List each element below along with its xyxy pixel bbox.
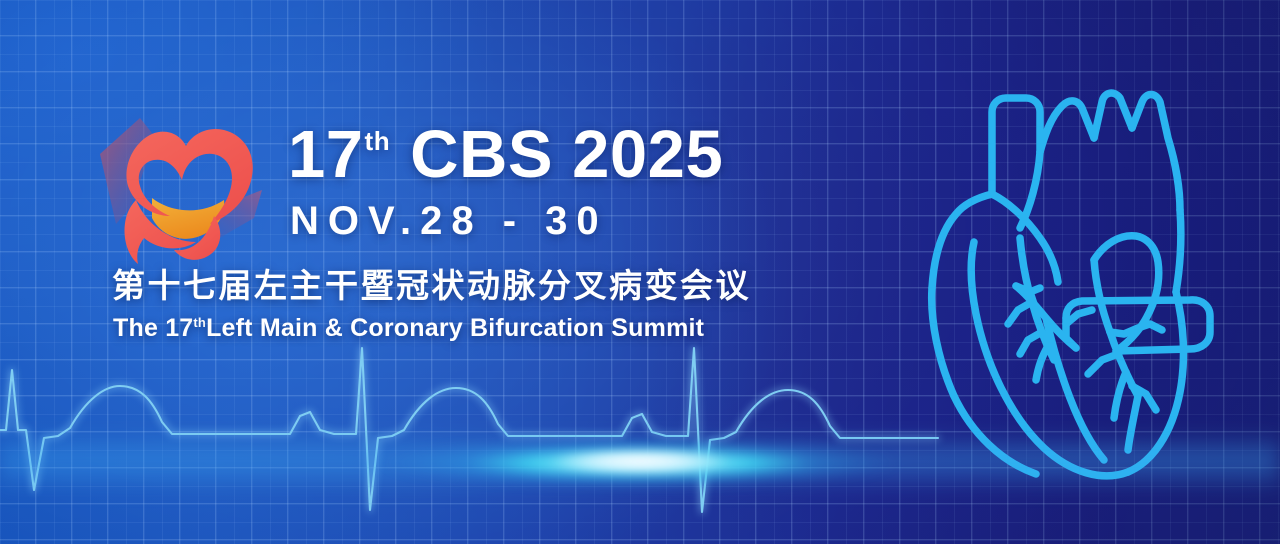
- ecg-waveform-icon: [0, 330, 960, 520]
- event-dates: NOV.28 - 30: [290, 198, 804, 244]
- subtitle-english-prefix: The 17: [113, 313, 193, 344]
- anatomical-heart-icon: [880, 42, 1260, 482]
- ecg-waveform-glow-icon: [0, 330, 960, 520]
- bottom-light-flare: [0, 354, 1280, 544]
- flare-core-hotspot: [550, 450, 730, 472]
- flare-core: [380, 440, 900, 486]
- subtitle-english-rest: Left Main & Coronary Bifurcation Summit: [206, 313, 704, 344]
- subtitle-english-suffix: th: [193, 315, 206, 331]
- subtitle-chinese: 第十七届左主干暨冠状动脉分叉病变会议: [112, 266, 804, 306]
- cbs-conference-banner: 17thCBS 2025 NOV.28 - 30 第十七届左主干暨冠状动脉分叉病…: [0, 0, 1280, 544]
- flare-band: [0, 432, 1280, 492]
- subtitle-english: The 17th Left Main & Coronary Bifurcatio…: [113, 313, 804, 344]
- title-ordinal-suffix: th: [365, 126, 391, 156]
- banner-text-block: 17thCBS 2025 NOV.28 - 30 第十七届左主干暨冠状动脉分叉病…: [104, 118, 804, 344]
- title-name: CBS 2025: [410, 118, 723, 192]
- page-title: 17thCBS 2025: [288, 118, 804, 192]
- title-ordinal: 17: [288, 118, 364, 192]
